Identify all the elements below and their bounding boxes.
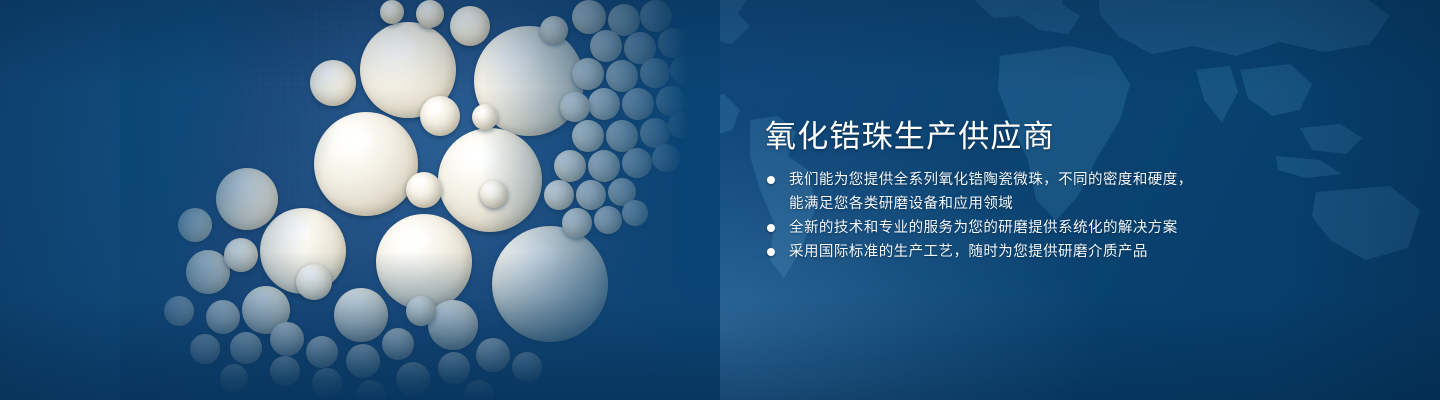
bullet-dot-icon [767, 248, 775, 256]
list-item: 采用国际标准的生产工艺，随时为您提供研磨介质产品 [763, 240, 1203, 264]
list-item: 全新的技术和专业的服务为您的研磨提供系统化的解决方案 [763, 216, 1203, 240]
list-item: 我们能为您提供全系列氧化锆陶瓷微珠，不同的密度和硬度，能满足您各类研磨设备和应用… [763, 168, 1203, 216]
bullet-dot-icon [767, 176, 775, 184]
banner-headline: 氧化锆珠生产供应商 [765, 111, 1055, 156]
list-item-text: 全新的技术和专业的服务为您的研磨提供系统化的解决方案 [789, 220, 1178, 236]
bullet-dot-icon [767, 224, 775, 232]
banner-content: 氧化锆珠生产供应商 我们能为您提供全系列氧化锆陶瓷微珠，不同的密度和硬度，能满足… [763, 0, 1233, 400]
hero-banner: 氧化锆珠生产供应商 我们能为您提供全系列氧化锆陶瓷微珠，不同的密度和硬度，能满足… [0, 0, 1440, 400]
list-item-text: 采用国际标准的生产工艺，随时为您提供研磨介质产品 [789, 244, 1148, 260]
list-item-text: 我们能为您提供全系列氧化锆陶瓷微珠，不同的密度和硬度，能满足您各类研磨设备和应用… [789, 172, 1193, 212]
feature-list: 我们能为您提供全系列氧化锆陶瓷微珠，不同的密度和硬度，能满足您各类研磨设备和应用… [763, 168, 1203, 264]
